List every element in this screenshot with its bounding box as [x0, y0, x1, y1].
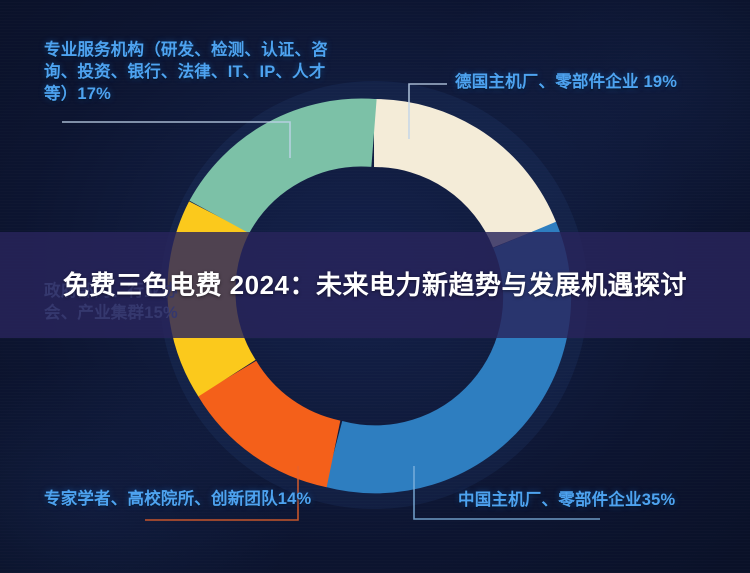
slice-german-oem[interactable]: [374, 133, 525, 235]
slice-experts[interactable]: [227, 378, 334, 454]
title-banner: 免费三色电费 2024：未来电力新趋势与发展机遇探讨: [0, 232, 750, 338]
infographic-canvas: 专业服务机构（研发、检测、认证、咨询、投资、银行、法律、IT、IP、人才等）17…: [0, 0, 750, 573]
banner-title-text: 免费三色电费 2024：未来电力新趋势与发展机遇探讨: [45, 267, 705, 304]
callout-experts: 专家学者、高校院所、创新团队14%: [44, 489, 314, 511]
callout-professional-services: 专业服务机构（研发、检测、认证、咨询、投资、银行、法律、IT、IP、人才等）17…: [44, 40, 344, 105]
callout-german-oem: 德国主机厂、零部件企业 19%: [455, 72, 735, 94]
slice-professional-services[interactable]: [219, 133, 374, 217]
callout-chinese-oem: 中国主机厂、零部件企业35%: [458, 490, 738, 512]
